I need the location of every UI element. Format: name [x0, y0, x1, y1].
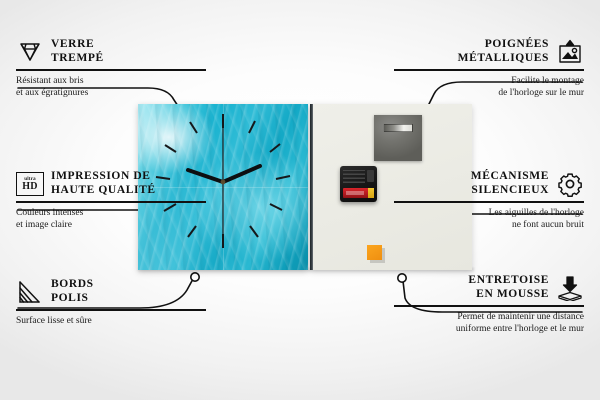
feature-underline	[16, 69, 206, 71]
feature-title: MÉCANISME SILENCIEUX	[471, 170, 549, 197]
feature-title: VERRE TREMPÉ	[51, 38, 104, 65]
feature-bords-polis: BORDS POLIS Surface lisse et sûre	[16, 278, 206, 327]
feature-header: VERRE TREMPÉ	[16, 38, 206, 66]
infographic-canvas: VERRE TREMPÉ Résistant aux bris et aux é…	[0, 0, 600, 400]
mechanism-vents	[343, 170, 365, 183]
polished-edge-icon	[16, 278, 44, 306]
feature-title: POIGNÉES MÉTALLIQUES	[458, 38, 549, 65]
feature-description: Les aiguilles de l'horloge ne font aucun…	[394, 207, 584, 231]
feature-title: ENTRETOISE EN MOUSSE	[468, 274, 549, 301]
feature-header: MÉCANISME SILENCIEUX	[394, 170, 584, 198]
framed-picture-icon	[556, 38, 584, 66]
feature-underline	[16, 201, 206, 203]
battery	[343, 188, 374, 198]
feature-description: Facilite le montage de l'horloge sur le …	[394, 75, 584, 99]
feature-underline	[394, 201, 584, 203]
gear-icon	[556, 170, 584, 198]
feature-description: Résistant aux bris et aux égratignures	[16, 75, 206, 99]
feature-title: BORDS POLIS	[51, 278, 94, 305]
foam-spacer-pad	[367, 245, 382, 260]
feature-title: IMPRESSION DE HAUTE QUALITÉ	[51, 170, 156, 197]
clock-movement-mechanism	[340, 166, 377, 202]
press-down-layers-icon	[556, 274, 584, 302]
diamond-icon	[16, 38, 44, 66]
feature-header: ENTRETOISE EN MOUSSE	[394, 274, 584, 302]
battery-positive-terminal	[368, 188, 374, 198]
clock-center-cap	[221, 180, 226, 185]
feature-verre-trempe: VERRE TREMPÉ Résistant aux bris et aux é…	[16, 38, 206, 99]
feature-entretoise-en-mousse: ENTRETOISE EN MOUSSE Permet de maintenir…	[394, 274, 584, 335]
feature-header: ultra HD IMPRESSION DE HAUTE QUALITÉ	[16, 170, 206, 198]
feature-description: Surface lisse et sûre	[16, 315, 206, 327]
mounting-plate-slot	[383, 124, 413, 132]
feature-mecanisme-silencieux: MÉCANISME SILENCIEUX Les aiguilles de l'…	[394, 170, 584, 231]
panel-left-edge	[310, 104, 313, 270]
battery-label-stripe	[346, 191, 364, 195]
ultra-hd-main-text: HD	[22, 182, 38, 192]
feature-underline	[394, 305, 584, 307]
feature-description: Couleurs intenses et image claire	[16, 207, 206, 231]
ultra-hd-icon: ultra HD	[16, 170, 44, 198]
metal-mounting-plate	[374, 115, 422, 161]
feature-impression-haute-qualite: ultra HD IMPRESSION DE HAUTE QUALITÉ Cou…	[16, 170, 206, 231]
minute-hand	[223, 166, 260, 182]
feature-underline	[394, 69, 584, 71]
feature-header: BORDS POLIS	[16, 278, 206, 306]
feature-description: Permet de maintenir une distance uniform…	[394, 311, 584, 335]
mechanism-knob	[367, 170, 374, 182]
feature-underline	[16, 309, 206, 311]
feature-poignees-metalliques: POIGNÉES MÉTALLIQUES Facilite le montage…	[394, 38, 584, 99]
feature-header: POIGNÉES MÉTALLIQUES	[394, 38, 584, 66]
